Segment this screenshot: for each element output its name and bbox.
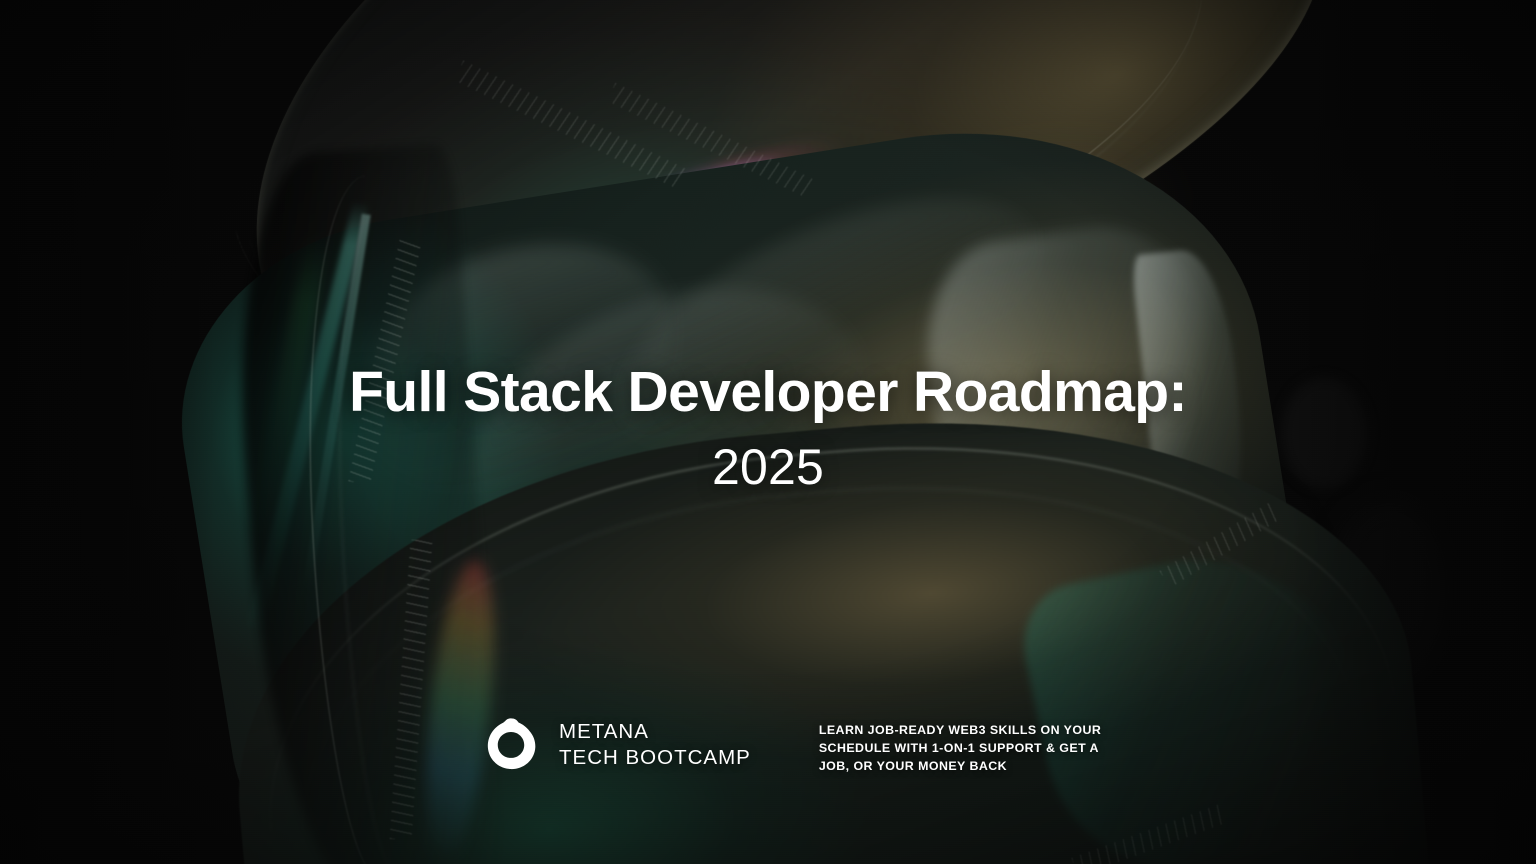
brand-lockup: METANA TECH BOOTCAMP xyxy=(482,716,751,774)
brand-name-line2: TECH BOOTCAMP xyxy=(559,746,751,769)
poster-canvas: Full Stack Developer Roadmap: 2025 METAN… xyxy=(0,0,1536,864)
headline-title: Full Stack Developer Roadmap: xyxy=(0,363,1536,421)
metana-ring-logo-icon xyxy=(482,716,540,774)
footer-lockup: METANA TECH BOOTCAMP LEARN JOB-READY WEB… xyxy=(482,716,1119,776)
brand-name-line1: METANA xyxy=(559,720,649,743)
brand-name: METANA TECH BOOTCAMP xyxy=(559,719,751,771)
tagline-text: LEARN JOB-READY WEB3 SKILLS ON YOUR SCHE… xyxy=(819,722,1119,776)
headline-year: 2025 xyxy=(0,440,1536,495)
